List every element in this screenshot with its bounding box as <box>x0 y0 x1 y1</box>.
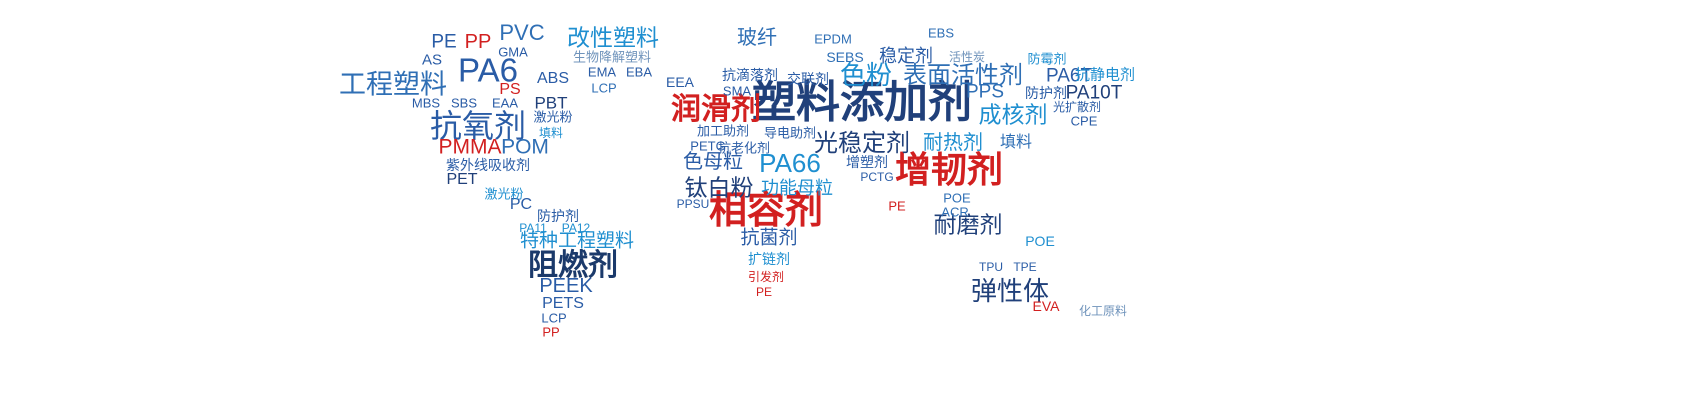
wordcloud-word[interactable]: CPE <box>1071 115 1098 128</box>
wordcloud-word[interactable]: PP <box>542 326 559 339</box>
wordcloud-word[interactable]: 抗菌剂 <box>740 229 797 248</box>
wordcloud-word[interactable]: 导电助剂 <box>764 127 816 140</box>
wordcloud-word[interactable]: ACR <box>941 206 968 219</box>
wordcloud-word[interactable]: 抗滴落剂 <box>722 68 778 82</box>
wordcloud-word[interactable]: EAA <box>492 97 518 110</box>
wordcloud-word[interactable]: 耐热剂 <box>923 133 983 153</box>
wordcloud-word[interactable]: 改性塑料 <box>567 27 659 50</box>
wordcloud-word[interactable]: 抗老化剂 <box>718 142 770 155</box>
wordcloud-word[interactable]: 增韧剂 <box>895 152 1003 188</box>
wordcloud-word[interactable]: 功能母粒 <box>761 179 833 197</box>
wordcloud-word[interactable]: POE <box>943 192 970 205</box>
wordcloud-word[interactable]: 防霉剂 <box>1027 53 1066 66</box>
wordcloud-word[interactable]: 光扩散剂 <box>1053 101 1101 113</box>
wordcloud-word[interactable]: PETG <box>690 140 725 153</box>
wordcloud-word[interactable]: PVC <box>499 22 544 44</box>
wordcloud-word[interactable]: EBS <box>928 27 954 40</box>
wordcloud-word[interactable]: 激光粉 <box>484 188 523 201</box>
wordcloud-word[interactable]: LCP <box>591 82 616 95</box>
wordcloud-word[interactable]: 生物降解塑料 <box>573 51 651 64</box>
wordcloud-word[interactable]: PPSU <box>677 198 710 210</box>
wordcloud-word[interactable]: SMA <box>723 85 751 98</box>
wordcloud-word[interactable]: 紫外线吸收剂 <box>446 158 530 172</box>
wordcloud-word[interactable]: EPDM <box>814 33 852 46</box>
wordcloud-word[interactable]: PPS <box>966 83 1004 102</box>
wordcloud-word[interactable]: 化工原料 <box>1079 305 1127 317</box>
wordcloud-word[interactable]: MBS <box>412 97 440 110</box>
wordcloud-word[interactable]: PP <box>465 32 492 52</box>
wordcloud-word[interactable]: EEA <box>666 75 694 89</box>
wordcloud-word[interactable]: TPU <box>979 261 1003 273</box>
wordcloud-word[interactable]: 光稳定剂 <box>814 132 910 156</box>
wordcloud-canvas: 塑料添加剂相容剂增韧剂润滑剂阻燃剂抗氧剂工程塑料PA6表面活性剂光稳定剂色粉PA… <box>0 0 1707 400</box>
wordcloud-word[interactable]: 活性炭 <box>949 51 985 63</box>
wordcloud-word[interactable]: 稳定剂 <box>879 47 933 65</box>
wordcloud-word[interactable]: PE <box>431 33 456 52</box>
wordcloud-word[interactable]: EVA <box>1033 299 1060 313</box>
wordcloud-word[interactable]: TPE <box>1013 261 1036 273</box>
wordcloud-word[interactable]: SEBS <box>826 50 863 64</box>
wordcloud-word[interactable]: 扩链剂 <box>748 252 790 266</box>
wordcloud-word[interactable]: POE <box>1025 234 1055 248</box>
wordcloud-word[interactable]: AS <box>422 53 442 68</box>
wordcloud-word[interactable]: 填料 <box>1000 135 1032 151</box>
wordcloud-word[interactable]: PA11 <box>519 222 547 234</box>
wordcloud-word[interactable]: PMMA <box>439 137 502 158</box>
wordcloud-word[interactable]: 工程塑料 <box>339 72 447 99</box>
wordcloud-word[interactable]: PE <box>888 200 905 213</box>
wordcloud-word[interactable]: LCP <box>541 312 566 325</box>
wordcloud-word[interactable]: 防护剂 <box>1025 86 1067 100</box>
wordcloud-word[interactable]: 抗静电剂 <box>1075 68 1135 83</box>
wordcloud-word[interactable]: SBS <box>451 97 477 110</box>
wordcloud-word[interactable]: ABS <box>537 71 569 87</box>
wordcloud-word[interactable]: 成核剂 <box>979 104 1048 127</box>
wordcloud-word[interactable]: GMA <box>498 46 528 59</box>
wordcloud-word[interactable]: 玻纤 <box>737 28 777 48</box>
wordcloud-word[interactable]: EBA <box>626 66 652 79</box>
wordcloud-word[interactable]: 引发剂 <box>748 271 784 283</box>
wordcloud-word[interactable]: 交联剂 <box>787 72 829 86</box>
wordcloud-word[interactable]: 表面活性剂 <box>903 64 1023 88</box>
wordcloud-word[interactable]: 激光粉 <box>533 111 572 124</box>
wordcloud-word[interactable]: EMA <box>588 66 616 79</box>
wordcloud-word[interactable]: PET <box>446 172 477 188</box>
wordcloud-word[interactable]: 润滑剂 <box>671 95 761 125</box>
wordcloud-word[interactable]: 填料 <box>539 127 563 139</box>
wordcloud-word[interactable]: 加工助剂 <box>697 125 749 138</box>
wordcloud-word[interactable]: 增塑剂 <box>846 155 888 169</box>
wordcloud-word[interactable]: PEEK <box>539 276 592 296</box>
wordcloud-word[interactable]: PCTG <box>860 171 893 183</box>
wordcloud-word[interactable]: PA12 <box>562 222 590 234</box>
wordcloud-word[interactable]: PE <box>756 286 772 298</box>
